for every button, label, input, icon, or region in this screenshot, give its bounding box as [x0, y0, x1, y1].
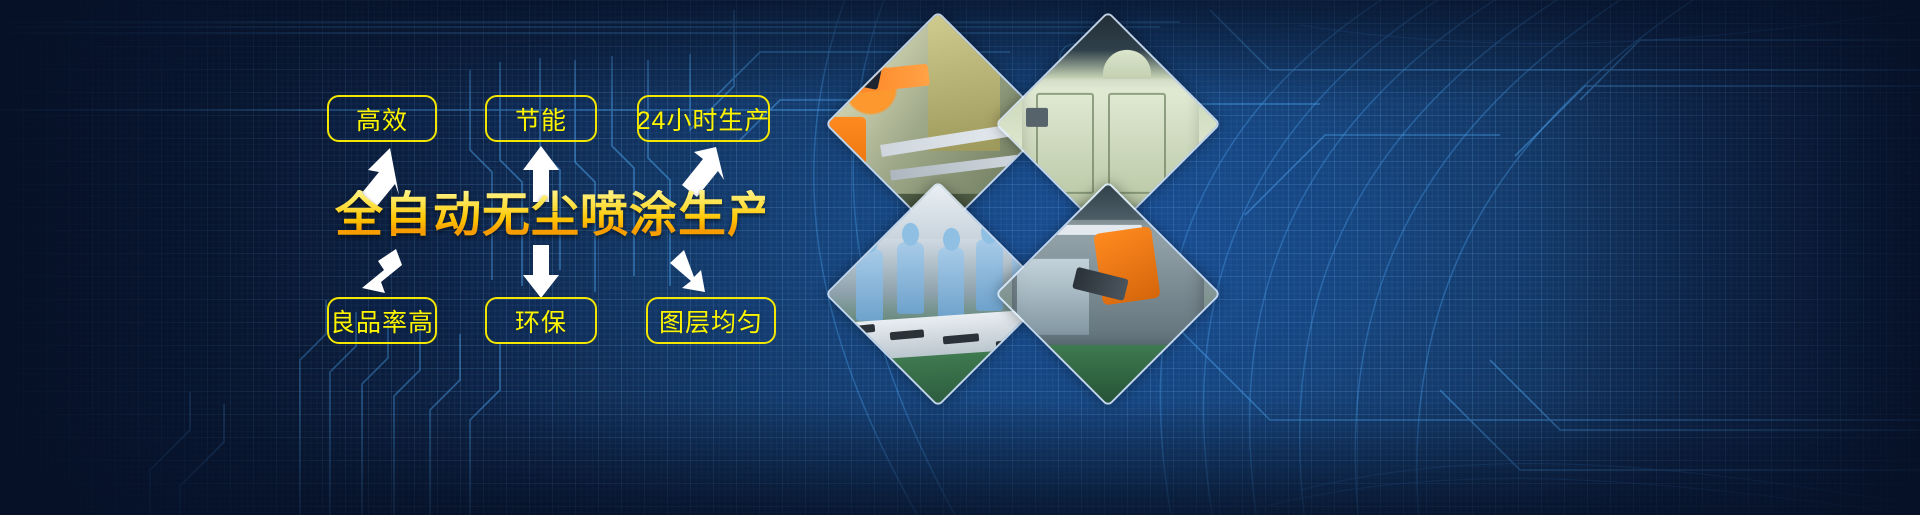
feature-pill-bottom-2[interactable]: 环保: [485, 297, 597, 344]
product-banner: 高效 节能 24小时生产 全自动无尘喷涂生产线 良品率高 环保 图层均匀: [0, 0, 1920, 515]
feature-label: 良品率高: [330, 303, 434, 339]
banner-headline: 全自动无尘喷涂生产线: [335, 190, 765, 243]
arrow-down-right-icon: [670, 250, 705, 292]
feature-label: 环保: [515, 303, 567, 339]
feature-label: 高效: [356, 101, 408, 137]
arrow-down-icon: [523, 245, 559, 298]
feature-label: 图层均匀: [659, 303, 763, 339]
feature-pill-bottom-1[interactable]: 良品率高: [327, 297, 437, 344]
feature-infographic: 高效 节能 24小时生产 全自动无尘喷涂生产线 良品率高 环保 图层均匀: [0, 0, 1000, 515]
arrow-down-left-icon: [362, 249, 402, 293]
feature-pill-top-2[interactable]: 节能: [485, 95, 597, 142]
feature-label: 节能: [515, 101, 567, 137]
spray-booth-robot-photo: [995, 181, 1221, 407]
photo-collage: [852, 38, 1194, 380]
feature-pill-top-1[interactable]: 高效: [327, 95, 437, 142]
arrow-group: [0, 0, 1000, 515]
feature-pill-bottom-3[interactable]: 图层均匀: [646, 297, 776, 344]
feature-pill-top-3[interactable]: 24小时生产: [637, 95, 770, 142]
feature-label: 24小时生产: [637, 101, 771, 137]
